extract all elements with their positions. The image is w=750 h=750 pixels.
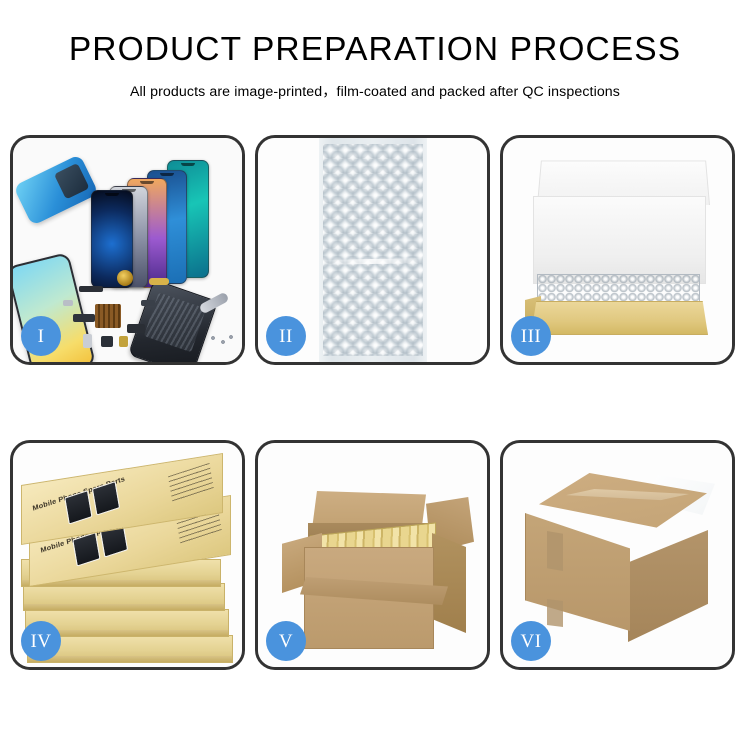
notch-icon xyxy=(160,173,174,176)
step-badge-5: V xyxy=(266,621,306,661)
carton-front-face xyxy=(525,513,630,631)
button-part-icon xyxy=(83,334,92,348)
strip-part-icon xyxy=(79,286,103,292)
page-header: PRODUCT PREPARATION PROCESS All products… xyxy=(0,0,750,101)
carton-front-tape-lower xyxy=(547,599,563,627)
open-shipping-carton-icon xyxy=(282,477,470,653)
screws-icon xyxy=(209,334,235,348)
chip-grid-part-icon xyxy=(95,304,121,328)
process-step-panel-6: VI xyxy=(500,440,735,670)
page-title: PRODUCT PREPARATION PROCESS xyxy=(0,33,750,67)
notch-icon xyxy=(105,193,119,196)
small-part-icon xyxy=(141,300,155,306)
step-badge-2: II xyxy=(266,316,306,356)
process-step-panel-2: II xyxy=(255,135,490,365)
phone-back-housing-icon xyxy=(128,279,218,362)
carton-front-tape-upper xyxy=(547,531,563,571)
process-step-panel-4: Mobile Phone Spare Parts Mobile Phone Sp… xyxy=(10,440,245,670)
box-front-wall xyxy=(531,301,708,335)
notch-icon xyxy=(181,163,195,166)
coil-part-icon xyxy=(117,270,133,286)
sealed-shipping-carton-icon xyxy=(525,473,721,653)
box-back-wall xyxy=(533,196,706,284)
button-part-icon xyxy=(101,336,113,347)
phone-screen-fan xyxy=(91,156,241,281)
box-artwork-screen-icon xyxy=(64,490,92,525)
bubble-pattern-offset xyxy=(323,144,423,356)
page-subtitle: All products are image-printed，film-coat… xyxy=(0,81,750,101)
step-badge-6: VI xyxy=(511,621,551,661)
carton-right-face xyxy=(628,530,708,642)
carton-right-side xyxy=(432,533,466,633)
step-badge-4: IV xyxy=(21,621,61,661)
process-steps-grid: I II III xyxy=(10,135,740,670)
process-step-panel-1: I xyxy=(10,135,245,365)
bubble-wrap-pouch-icon xyxy=(319,138,427,362)
step-badge-3: III xyxy=(511,316,551,356)
notch-icon xyxy=(140,181,154,184)
retail-box-layer xyxy=(23,583,225,611)
button-part-icon xyxy=(119,336,128,347)
box-artwork-screen-icon xyxy=(92,481,120,516)
box-spec-lines xyxy=(168,463,214,503)
open-inner-box-icon xyxy=(521,156,714,332)
process-step-panel-3: III xyxy=(500,135,735,365)
box-artwork-screen-icon xyxy=(72,532,100,567)
flex-cable-part-icon xyxy=(73,314,95,322)
flex-cable-part-icon xyxy=(127,324,145,333)
blue-adhesive-film-icon xyxy=(13,154,99,226)
small-part-icon xyxy=(63,300,73,306)
step-badge-1: I xyxy=(21,316,61,356)
process-step-panel-5: V xyxy=(255,440,490,670)
flex-cable-part-icon xyxy=(149,278,169,285)
